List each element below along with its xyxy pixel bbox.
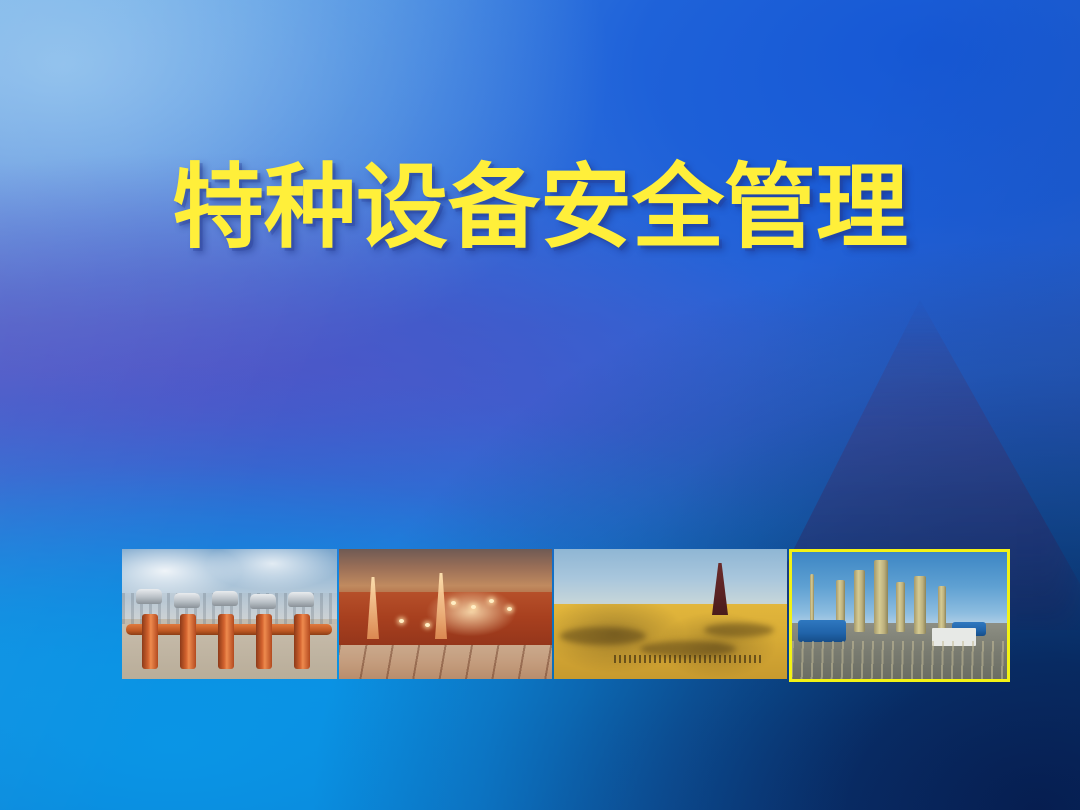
photo-desert-drilling-rig [554, 549, 787, 679]
background-sheen [0, 0, 1080, 810]
background-top-left-highlight [0, 0, 1080, 810]
background-base-gradient [0, 0, 1080, 810]
background-top-right-glow [0, 0, 1080, 810]
title-block: 特种设备安全管理 [0, 158, 1080, 257]
background-cyan-glow [0, 0, 1080, 810]
background-violet-band [0, 0, 1080, 810]
background-navy-shadow [0, 0, 1080, 810]
photo-strip [122, 549, 1010, 682]
page-title: 特种设备安全管理 [172, 158, 908, 257]
presentation-slide: 特种设备安全管理 [0, 0, 1080, 810]
photo-oilfield-at-sunset [339, 549, 552, 679]
photo-gas-wellhead-manifold [122, 549, 337, 679]
photo-refinery-plant [789, 549, 1010, 682]
